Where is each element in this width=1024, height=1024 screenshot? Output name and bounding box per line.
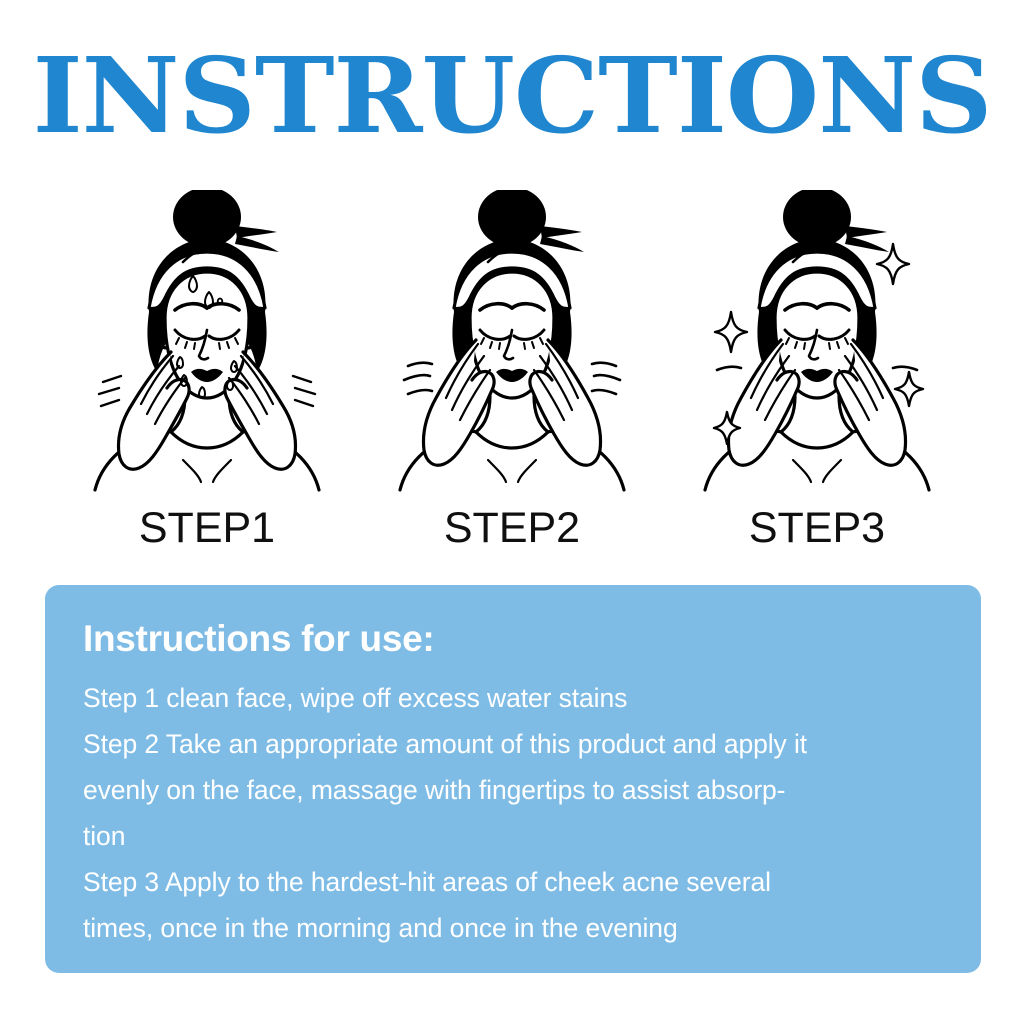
motion-line [408, 390, 432, 394]
motion-line [408, 363, 432, 366]
collarbone-right [823, 460, 841, 482]
instruction-line: tion [83, 813, 941, 859]
motion-line [594, 375, 620, 380]
sparkle-icon [895, 372, 923, 406]
step-card-1: STEP1 [62, 190, 352, 552]
hair-bun-icon [478, 190, 546, 247]
motion-lines-right [293, 376, 315, 406]
motion-line [893, 367, 917, 370]
motion-line [404, 375, 430, 380]
page-title: INSTRUCTIONS [0, 44, 1024, 148]
hair-bun-icon [783, 190, 851, 247]
instruction-line: times, once in the morning and once in t… [83, 905, 941, 951]
instructions-panel: Instructions for use: Step 1 clean face,… [45, 585, 981, 973]
collarbone-left [793, 460, 811, 482]
collarbone-right [213, 460, 231, 482]
collarbone-left [183, 460, 201, 482]
steps-row: STEP1 [0, 190, 1024, 570]
step-card-2: STEP2 [367, 190, 657, 552]
step3-illustration [697, 190, 937, 500]
motion-lines-left [99, 376, 121, 406]
hair-wisp-icon [235, 226, 277, 238]
motion-line [717, 367, 741, 370]
hair-wisp-icon [235, 236, 279, 252]
hair-wisp-icon [540, 226, 582, 238]
step-label-3: STEP3 [749, 504, 885, 552]
collarbone-left [488, 460, 506, 482]
step-label-1: STEP1 [139, 504, 275, 552]
instruction-line: Step 3 Apply to the hardest-hit areas of… [83, 859, 941, 905]
instruction-line: evenly on the face, massage with fingert… [83, 767, 941, 813]
motion-line [592, 390, 616, 394]
step-label-2: STEP2 [444, 504, 580, 552]
step2-illustration [392, 190, 632, 500]
sparkle-icon [715, 312, 747, 352]
instruction-line: Step 2 Take an appropriate amount of thi… [83, 721, 941, 767]
hair-wisp-icon [540, 236, 584, 252]
instruction-line: Step 1 clean face, wipe off excess water… [83, 675, 941, 721]
step-card-3: STEP3 [672, 190, 962, 552]
motion-line [592, 363, 616, 366]
panel-heading: Instructions for use: [83, 617, 941, 661]
hair-bun-icon [173, 190, 241, 247]
collarbone-right [518, 460, 536, 482]
step1-illustration [87, 190, 327, 500]
hair-wisp-icon [845, 236, 889, 252]
hair-wisp-icon [845, 226, 887, 238]
